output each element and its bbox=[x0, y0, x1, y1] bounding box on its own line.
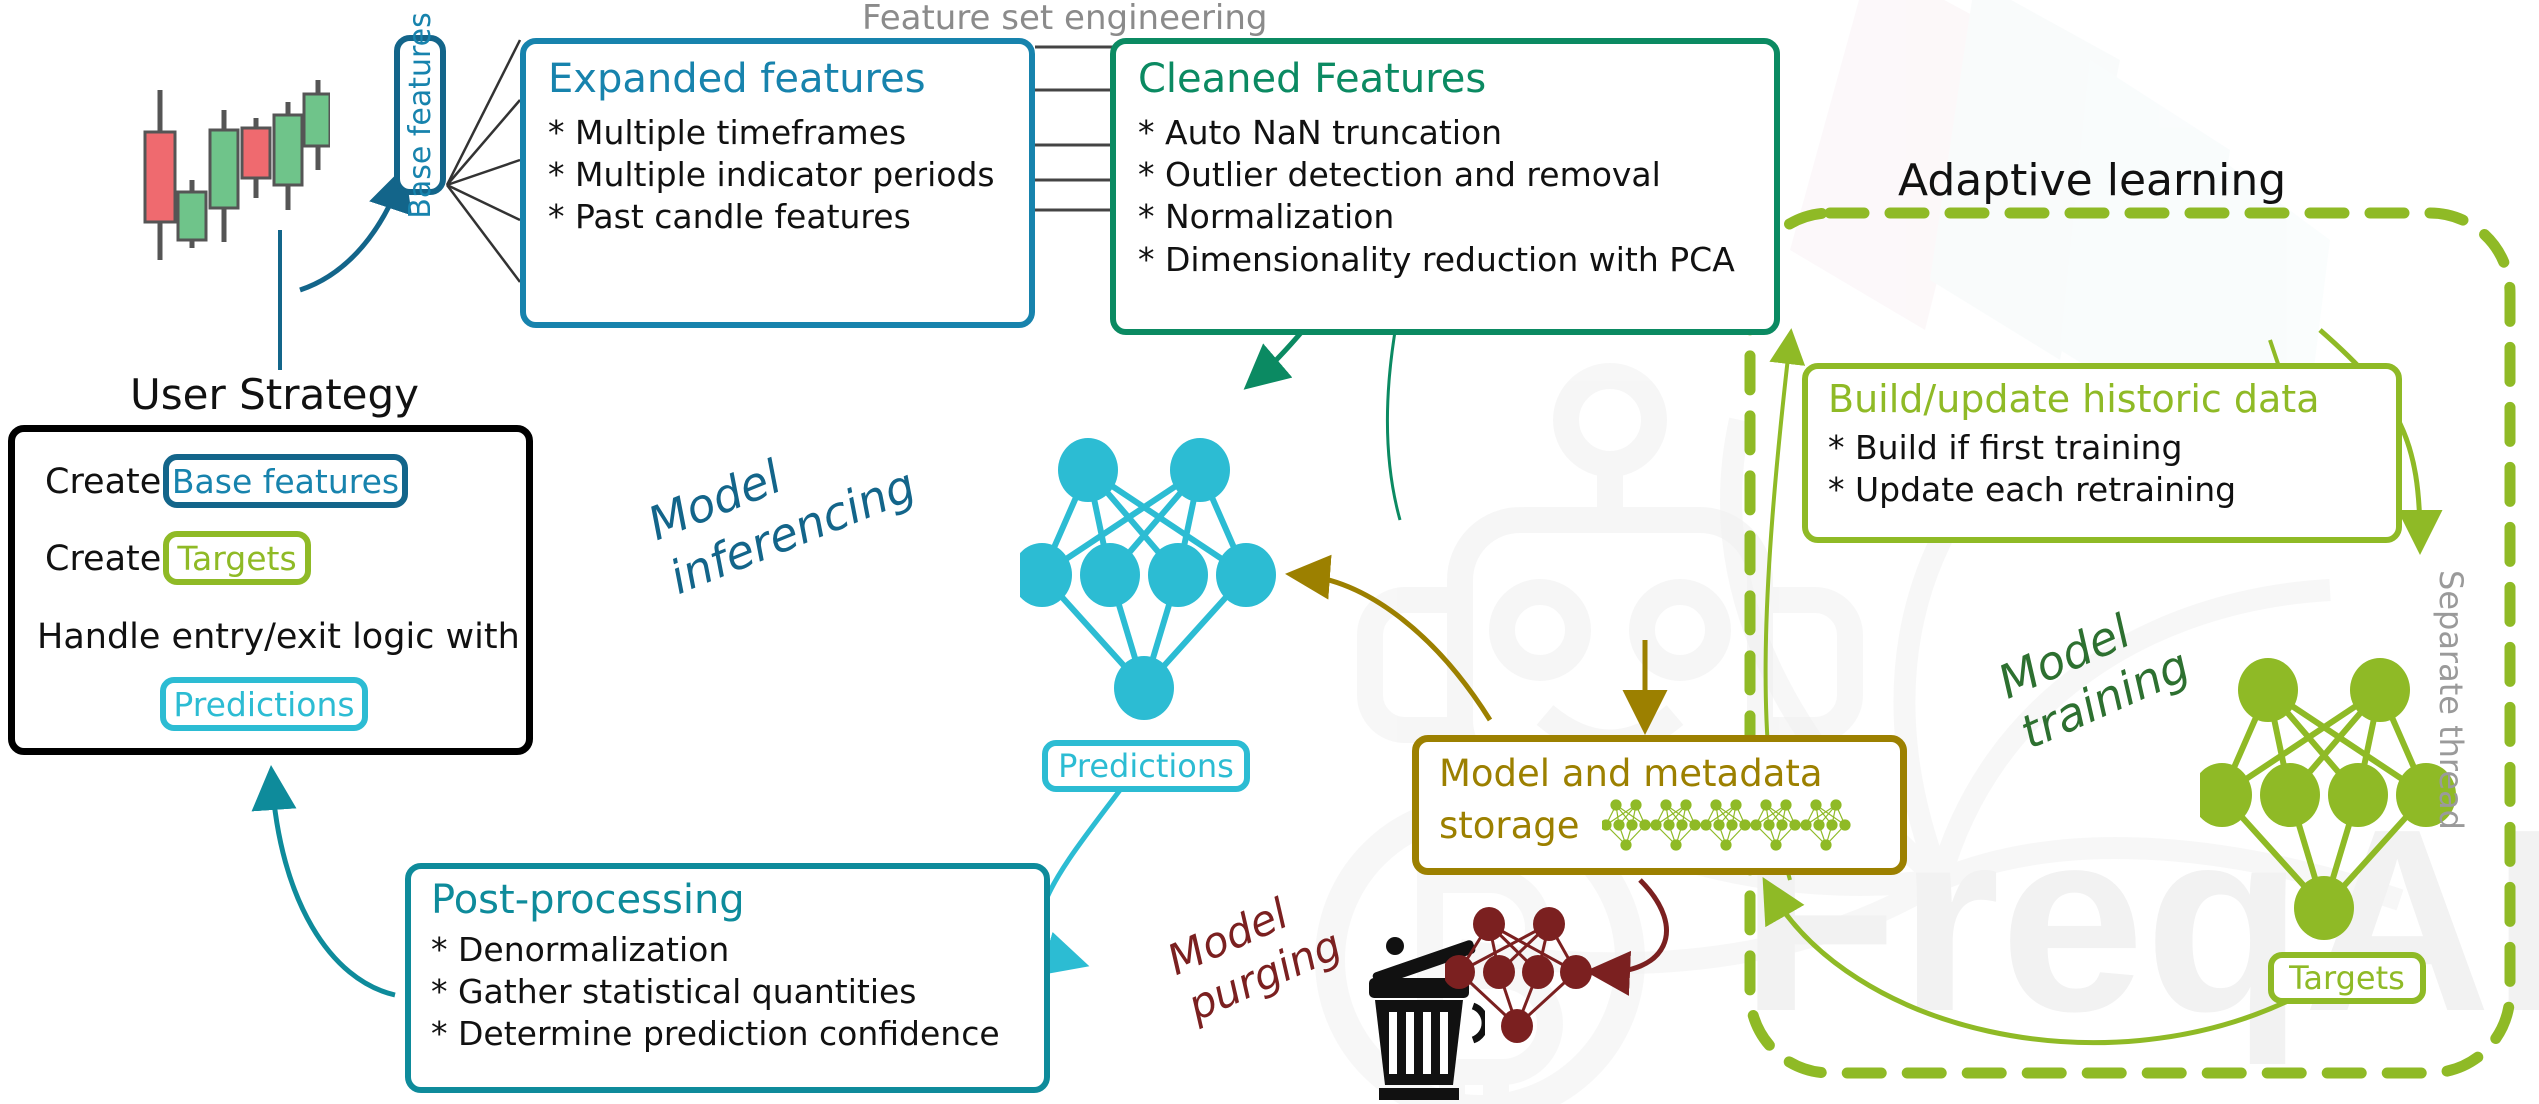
list-item: * Auto NaN truncation bbox=[1138, 112, 1774, 154]
box-model-storage[interactable]: Model and metadata storage bbox=[1412, 735, 1907, 875]
pill-targets-strategy[interactable]: Targets bbox=[163, 531, 311, 585]
candle-up-6 bbox=[304, 94, 330, 146]
box-cleaned-features[interactable]: Cleaned Features * Auto NaN truncation *… bbox=[1110, 38, 1780, 335]
label-separate-thread: Separate thread bbox=[2432, 570, 2470, 830]
list-item: * Normalization bbox=[1138, 196, 1774, 238]
diagram-canvas: FreqAI bbox=[0, 0, 2539, 1104]
arrow-postprocessing-to-strategy bbox=[272, 780, 395, 995]
box-user-strategy[interactable]: Create Base features Create Targets Hand… bbox=[8, 425, 533, 755]
list-item: * Build if first training bbox=[1828, 427, 2396, 469]
pill-base-features-label: Base features bbox=[403, 12, 438, 219]
box-model-storage-title-line2: storage bbox=[1439, 804, 1580, 847]
label-adaptive-learning: Adaptive learning bbox=[1898, 155, 2286, 206]
neural-net-inference bbox=[1020, 430, 1300, 730]
box-build-update-historic[interactable]: Build/update historic data * Build if fi… bbox=[1802, 363, 2402, 543]
candle-up-3 bbox=[210, 130, 238, 208]
candle-down-1 bbox=[145, 132, 175, 222]
mini-neural-nets-icon bbox=[1602, 797, 1862, 853]
pill-predictions-strategy-label: Predictions bbox=[173, 685, 354, 724]
list-item: * Multiple indicator periods bbox=[548, 154, 1029, 196]
box-cleaned-features-title: Cleaned Features bbox=[1138, 58, 1774, 100]
candle-up-5 bbox=[274, 115, 302, 185]
user-strategy-logic-text: Handle entry/exit logic with bbox=[37, 617, 520, 657]
pill-base-features-strategy-label: Base features bbox=[172, 462, 399, 501]
box-expanded-features[interactable]: Expanded features * Multiple timeframes … bbox=[520, 38, 1035, 328]
list-item: * Gather statistical quantities bbox=[431, 971, 1044, 1013]
user-strategy-create-2-label: Create bbox=[45, 539, 161, 579]
list-item: * Denormalization bbox=[431, 929, 1044, 971]
label-feature-set-engineering: Feature set engineering bbox=[862, 0, 1268, 38]
box-post-processing[interactable]: Post-processing * Denormalization * Gath… bbox=[405, 863, 1050, 1093]
box-build-update-historic-title: Build/update historic data bbox=[1828, 377, 2396, 421]
box-build-update-historic-items: * Build if first training * Update each … bbox=[1828, 427, 2396, 511]
box-post-processing-items: * Denormalization * Gather statistical q… bbox=[431, 929, 1044, 1056]
neural-net-purged bbox=[1445, 900, 1605, 1050]
arrow-storage-to-purge bbox=[1600, 880, 1666, 972]
pill-base-features[interactable]: Base features bbox=[394, 35, 446, 195]
list-item: * Past candle features bbox=[548, 196, 1029, 238]
list-item: * Update each retraining bbox=[1828, 469, 2396, 511]
pill-predictions-net-label: Predictions bbox=[1058, 747, 1234, 785]
pill-predictions-strategy[interactable]: Predictions bbox=[160, 677, 368, 731]
pill-targets-training-label: Targets bbox=[2289, 959, 2405, 997]
list-item: * Determine prediction confidence bbox=[431, 1013, 1044, 1055]
candle-up-2 bbox=[178, 192, 206, 240]
list-item: * Outlier detection and removal bbox=[1138, 154, 1774, 196]
pill-targets-training[interactable]: Targets bbox=[2268, 952, 2426, 1004]
arrow-predictions-to-postprocessing bbox=[1040, 790, 1120, 962]
pill-targets-strategy-label: Targets bbox=[177, 539, 296, 578]
pill-predictions-net[interactable]: Predictions bbox=[1042, 740, 1250, 792]
list-item: * Dimensionality reduction with PCA bbox=[1138, 239, 1774, 281]
fan-base-to-expanded bbox=[447, 40, 520, 282]
user-strategy-create-1-label: Create bbox=[45, 462, 161, 502]
box-model-storage-title-line1: Model and metadata bbox=[1439, 752, 1900, 795]
candlestick-chart bbox=[140, 70, 330, 300]
pill-base-features-strategy[interactable]: Base features bbox=[163, 454, 408, 508]
box-expanded-features-title: Expanded features bbox=[548, 58, 1029, 100]
box-cleaned-features-items: * Auto NaN truncation * Outlier detectio… bbox=[1138, 112, 1774, 281]
list-item: * Multiple timeframes bbox=[548, 112, 1029, 154]
label-user-strategy: User Strategy bbox=[130, 370, 419, 419]
box-post-processing-title: Post-processing bbox=[431, 879, 1044, 921]
arrow-storage-to-inference bbox=[1300, 575, 1490, 720]
candle-down-4 bbox=[242, 128, 270, 178]
box-expanded-features-items: * Multiple timeframes * Multiple indicat… bbox=[548, 112, 1029, 239]
